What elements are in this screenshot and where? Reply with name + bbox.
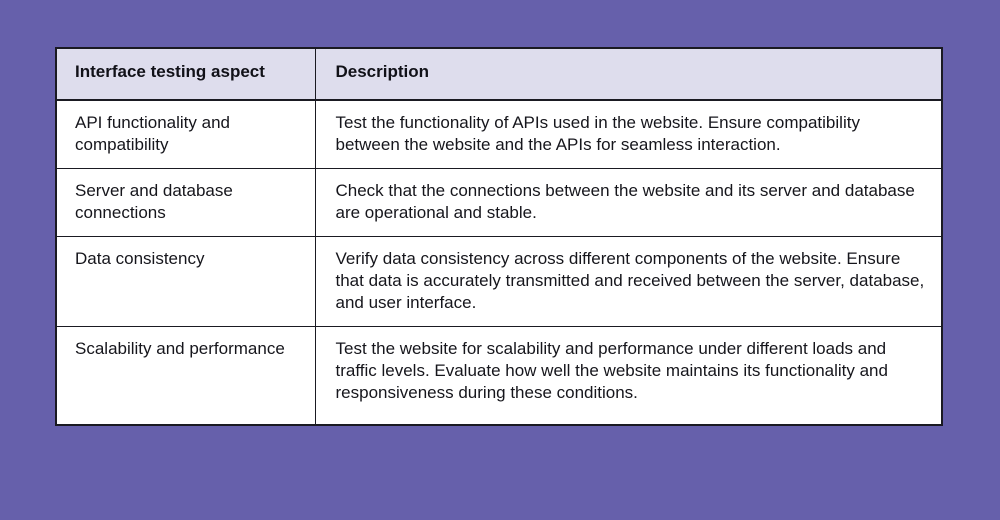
- cell-description: Test the functionality of APIs used in t…: [315, 100, 941, 169]
- table-header: Interface testing aspect Description: [57, 49, 941, 100]
- page-canvas: Interface testing aspect Description API…: [0, 0, 1000, 520]
- cell-aspect: API functionality and compatibility: [57, 100, 315, 169]
- column-header-description: Description: [315, 49, 941, 100]
- cell-aspect: Data consistency: [57, 237, 315, 327]
- interface-testing-table: Interface testing aspect Description API…: [57, 49, 941, 424]
- table-header-row: Interface testing aspect Description: [57, 49, 941, 100]
- column-header-aspect: Interface testing aspect: [57, 49, 315, 100]
- cell-aspect: Server and database connections: [57, 169, 315, 237]
- table-row: API functionality and compatibility Test…: [57, 100, 941, 169]
- cell-description: Check that the connections between the w…: [315, 169, 941, 237]
- table-body: API functionality and compatibility Test…: [57, 100, 941, 424]
- table-row: Scalability and performance Test the web…: [57, 327, 941, 425]
- table-row: Data consistency Verify data consistency…: [57, 237, 941, 327]
- cell-aspect: Scalability and performance: [57, 327, 315, 425]
- cell-description: Verify data consistency across different…: [315, 237, 941, 327]
- interface-testing-table-container: Interface testing aspect Description API…: [55, 47, 943, 426]
- cell-description: Test the website for scalability and per…: [315, 327, 941, 425]
- table-row: Server and database connections Check th…: [57, 169, 941, 237]
